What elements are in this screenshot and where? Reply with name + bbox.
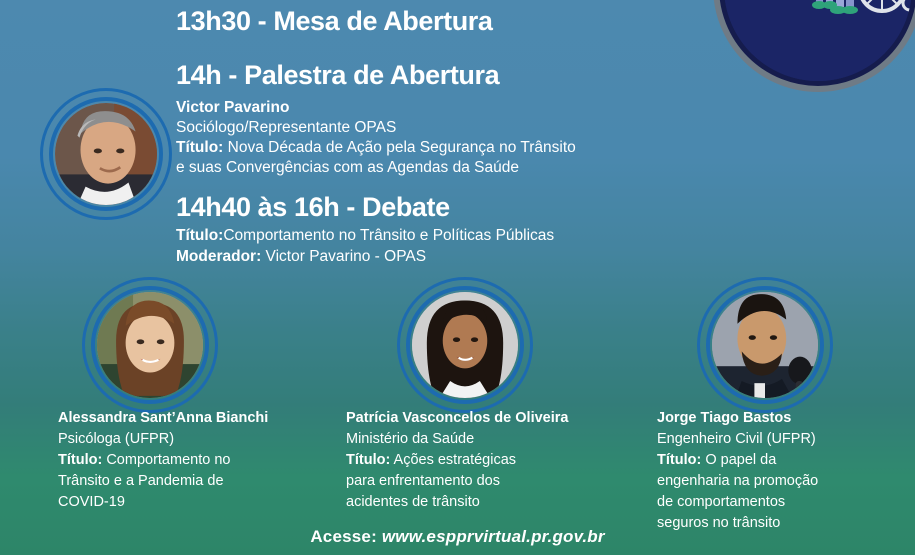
panelist-name: Patrícia Vasconcelos de Oliveira — [346, 409, 606, 429]
titulo-label: Título: — [657, 452, 701, 468]
event-logo — [713, 0, 915, 92]
panelist-role: Psicóloga (UFPR) — [58, 429, 308, 450]
avatar-patricia-oliveira — [412, 292, 518, 398]
footer-url[interactable]: www.espprvirtual.pr.gov.br — [382, 527, 605, 546]
panelist-column-patricia: Patrícia Vasconcelos de Oliveira Ministé… — [346, 409, 606, 513]
moderador-text: Victor Pavarino - OPAS — [261, 248, 426, 265]
session-abertura-mesa: 13h30 - Mesa de Abertura — [176, 6, 493, 36]
panelist-title-line-2: engenharia na promoção — [657, 471, 897, 492]
titulo-text: Nova Década de Ação pela Segurança no Tr… — [223, 139, 575, 156]
session-title-line-2: e suas Convergências com as Agendas da S… — [176, 158, 576, 178]
speaker-name: Victor Pavarino — [176, 98, 576, 118]
panelist-title-line-3: acidentes de trânsito — [346, 492, 606, 513]
panelist-title-line-3: de comportamentos — [657, 492, 897, 513]
session-time-title: 14h40 às 16h - Debate — [176, 192, 554, 222]
titulo-text: O papel da — [701, 452, 776, 468]
titulo-label: Título: — [176, 139, 223, 156]
session-debate: 14h40 às 16h - Debate Título:Comportamen… — [176, 192, 554, 267]
panelist-name: Jorge Tiago Bastos — [657, 409, 897, 429]
panelist-role: Ministério da Saúde — [346, 429, 606, 450]
moderador-label: Moderador: — [176, 248, 261, 265]
session-time-title: 14h - Palestra de Abertura — [176, 60, 576, 90]
panelist-title-line-1: Título: O papel da — [657, 450, 897, 471]
titulo-text: Comportamento no Trânsito e Políticas Pú… — [223, 227, 554, 244]
titulo-label: Título: — [176, 227, 223, 244]
panelist-title-line-1: Título: Comportamento no — [58, 450, 308, 471]
panelist-column-jorge: Jorge Tiago Bastos Engenheiro Civil (UFP… — [657, 409, 897, 534]
debate-title-line: Título:Comportamento no Trânsito e Polít… — [176, 226, 554, 246]
panelist-title-line-1: Título: Ações estratégicas — [346, 450, 606, 471]
titulo-label: Título: — [346, 452, 390, 468]
avatar-jorge-bastos — [712, 292, 818, 398]
session-title-line-1: Título: Nova Década de Ação pela Seguran… — [176, 138, 576, 158]
panelist-role: Engenheiro Civil (UFPR) — [657, 429, 897, 450]
avatar-victor-pavarino — [55, 103, 157, 205]
panelist-column-alessandra: Alessandra Sant’Anna Bianchi Psicóloga (… — [58, 409, 308, 513]
footer-label: Acesse: — [310, 527, 382, 546]
titulo-label: Título: — [58, 452, 102, 468]
session-palestra-abertura: 14h - Palestra de Abertura Victor Pavari… — [176, 60, 576, 179]
panelist-title-line-2: Trânsito e a Pandemia de — [58, 471, 308, 492]
titulo-text: Ações estratégicas — [390, 452, 516, 468]
session-time-title: 13h30 - Mesa de Abertura — [176, 6, 493, 36]
speaker-role: Sociólogo/Representante OPAS — [176, 118, 576, 138]
avatar-alessandra-bianchi — [97, 292, 203, 398]
panelist-name: Alessandra Sant’Anna Bianchi — [58, 409, 308, 429]
panelist-title-line-2: para enfrentamento dos — [346, 471, 606, 492]
footer-access-line: Acesse: www.espprvirtual.pr.gov.br — [0, 527, 915, 547]
panelist-title-line-3: COVID-19 — [58, 492, 308, 513]
titulo-text: Comportamento no — [102, 452, 230, 468]
debate-moderator-line: Moderador: Victor Pavarino - OPAS — [176, 247, 554, 267]
